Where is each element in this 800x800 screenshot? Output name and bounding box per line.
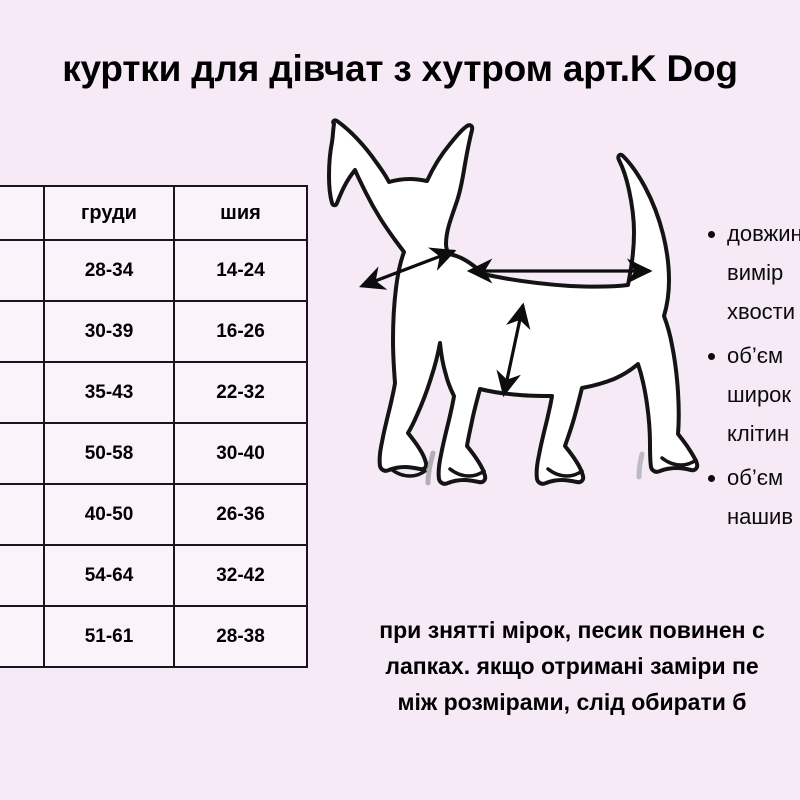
table-row: 54-64 32-42 bbox=[0, 545, 307, 606]
table-cell-chest: 50-58 bbox=[44, 423, 174, 484]
measurement-instructions-list: довжина вимір хвости об’єм широк клітин … bbox=[705, 214, 800, 541]
size-chart-table: а груди шия 28-34 14-24 30-39 16-26 35-4… bbox=[0, 185, 308, 668]
table-row: 50-58 30-40 bbox=[0, 423, 307, 484]
table-cell-chest: 35-43 bbox=[44, 362, 174, 423]
table-header-cell: шия bbox=[174, 186, 307, 240]
table-cell-size bbox=[0, 606, 44, 667]
table-cell-neck: 22-32 bbox=[174, 362, 307, 423]
front-leg-shading bbox=[428, 453, 433, 483]
table-cell-neck: 16-26 bbox=[174, 301, 307, 362]
page-root: куртки для дівчат з хутром арт.K Dog а г… bbox=[0, 0, 800, 800]
table-row: 35-43 22-32 bbox=[0, 362, 307, 423]
dog-body-outline bbox=[329, 120, 697, 483]
table-cell-size bbox=[0, 240, 44, 301]
table-row: 28-34 14-24 bbox=[0, 240, 307, 301]
table-cell-chest: 40-50 bbox=[44, 484, 174, 545]
table-cell-neck: 32-42 bbox=[174, 545, 307, 606]
table-cell-chest: 28-34 bbox=[44, 240, 174, 301]
hind-leg-shading bbox=[639, 454, 642, 477]
table-header-cell: груди bbox=[44, 186, 174, 240]
page-title: куртки для дівчат з хутром арт.K Dog bbox=[0, 46, 800, 92]
table-cell-size bbox=[0, 362, 44, 423]
table-row: 30-39 16-26 bbox=[0, 301, 307, 362]
table-cell-size bbox=[0, 301, 44, 362]
table-cell-neck: 30-40 bbox=[174, 423, 307, 484]
list-item: об’єм нашив bbox=[727, 458, 800, 536]
table-cell-neck: 14-24 bbox=[174, 240, 307, 301]
table-cell-chest: 54-64 bbox=[44, 545, 174, 606]
dog-silhouette-icon bbox=[329, 120, 697, 483]
table-cell-size bbox=[0, 484, 44, 545]
dog-measurement-diagram bbox=[320, 108, 740, 538]
list-item: довжина вимір хвости bbox=[727, 214, 800, 331]
table-cell-size bbox=[0, 545, 44, 606]
table-header-cell: а bbox=[0, 186, 44, 240]
measurement-note: при знятті мірок, песик повинен с лапках… bbox=[42, 612, 800, 720]
table-cell-neck: 26-36 bbox=[174, 484, 307, 545]
table-cell-chest: 30-39 bbox=[44, 301, 174, 362]
table-header-row: а груди шия bbox=[0, 186, 307, 240]
list-item: об’єм широк клітин bbox=[727, 336, 800, 453]
table-row: 40-50 26-36 bbox=[0, 484, 307, 545]
table-cell-size bbox=[0, 423, 44, 484]
